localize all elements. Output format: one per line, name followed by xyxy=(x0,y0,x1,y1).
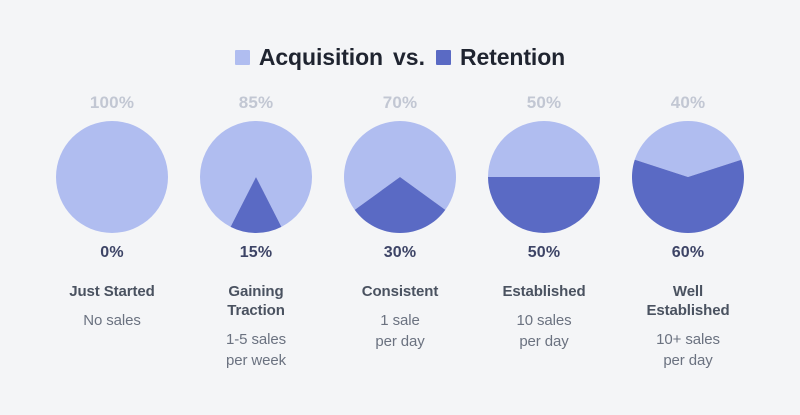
pie-svg xyxy=(344,121,456,233)
stage-column: 50%50%Established10 salesper day xyxy=(476,92,612,371)
chart-legend: Acquisition vs. Retention xyxy=(0,40,800,74)
pie-chart xyxy=(56,121,168,233)
acquisition-percent-label: 100% xyxy=(90,92,134,114)
stage-description: 1 saleper day xyxy=(375,310,424,352)
stage-description: No sales xyxy=(83,310,141,331)
pie-svg xyxy=(488,121,600,233)
stage-column: 70%30%Consistent1 saleper day xyxy=(332,92,468,371)
stage-title: Consistent xyxy=(362,282,439,301)
stage-column: 40%60%WellEstablished10+ salesper day xyxy=(620,92,756,371)
stage-title: WellEstablished xyxy=(646,282,729,320)
pie-svg xyxy=(632,121,744,233)
pie-chart xyxy=(488,121,600,233)
retention-slice xyxy=(488,177,600,233)
legend-separator: vs. xyxy=(393,46,425,69)
retention-percent-label: 30% xyxy=(384,243,417,263)
stage-description: 1-5 salesper week xyxy=(226,329,286,371)
acquisition-percent-label: 40% xyxy=(671,92,706,114)
retention-percent-label: 50% xyxy=(528,243,561,263)
acquisition-slice xyxy=(488,121,600,177)
legend-label-retention: Retention xyxy=(460,46,565,69)
pie-svg xyxy=(200,121,312,233)
acquisition-slice xyxy=(56,121,168,233)
legend-label-acquisition: Acquisition xyxy=(259,46,383,69)
legend-item-acquisition: Acquisition xyxy=(235,46,383,69)
acquisition-percent-label: 85% xyxy=(239,92,274,114)
retention-percent-label: 0% xyxy=(100,243,124,263)
retention-swatch-icon xyxy=(436,50,451,65)
stage-title: Just Started xyxy=(69,282,155,301)
stage-column: 100%0%Just StartedNo sales xyxy=(44,92,180,371)
retention-percent-label: 15% xyxy=(240,243,273,263)
acquisition-retention-chart: Acquisition vs. Retention 100%0%Just Sta… xyxy=(0,0,800,415)
pie-chart xyxy=(200,121,312,233)
acquisition-percent-label: 50% xyxy=(527,92,562,114)
stage-description: 10 salesper day xyxy=(516,310,571,352)
pie-chart xyxy=(344,121,456,233)
acquisition-swatch-icon xyxy=(235,50,250,65)
stage-column: 85%15%GainingTraction1-5 salesper week xyxy=(188,92,324,371)
stage-columns: 100%0%Just StartedNo sales85%15%GainingT… xyxy=(0,92,800,371)
legend-item-retention: Retention xyxy=(436,46,565,69)
retention-percent-label: 60% xyxy=(672,243,705,263)
stage-description: 10+ salesper day xyxy=(656,329,720,371)
pie-chart xyxy=(632,121,744,233)
pie-svg xyxy=(56,121,168,233)
stage-title: GainingTraction xyxy=(227,282,285,320)
acquisition-percent-label: 70% xyxy=(383,92,418,114)
stage-title: Established xyxy=(502,282,585,301)
